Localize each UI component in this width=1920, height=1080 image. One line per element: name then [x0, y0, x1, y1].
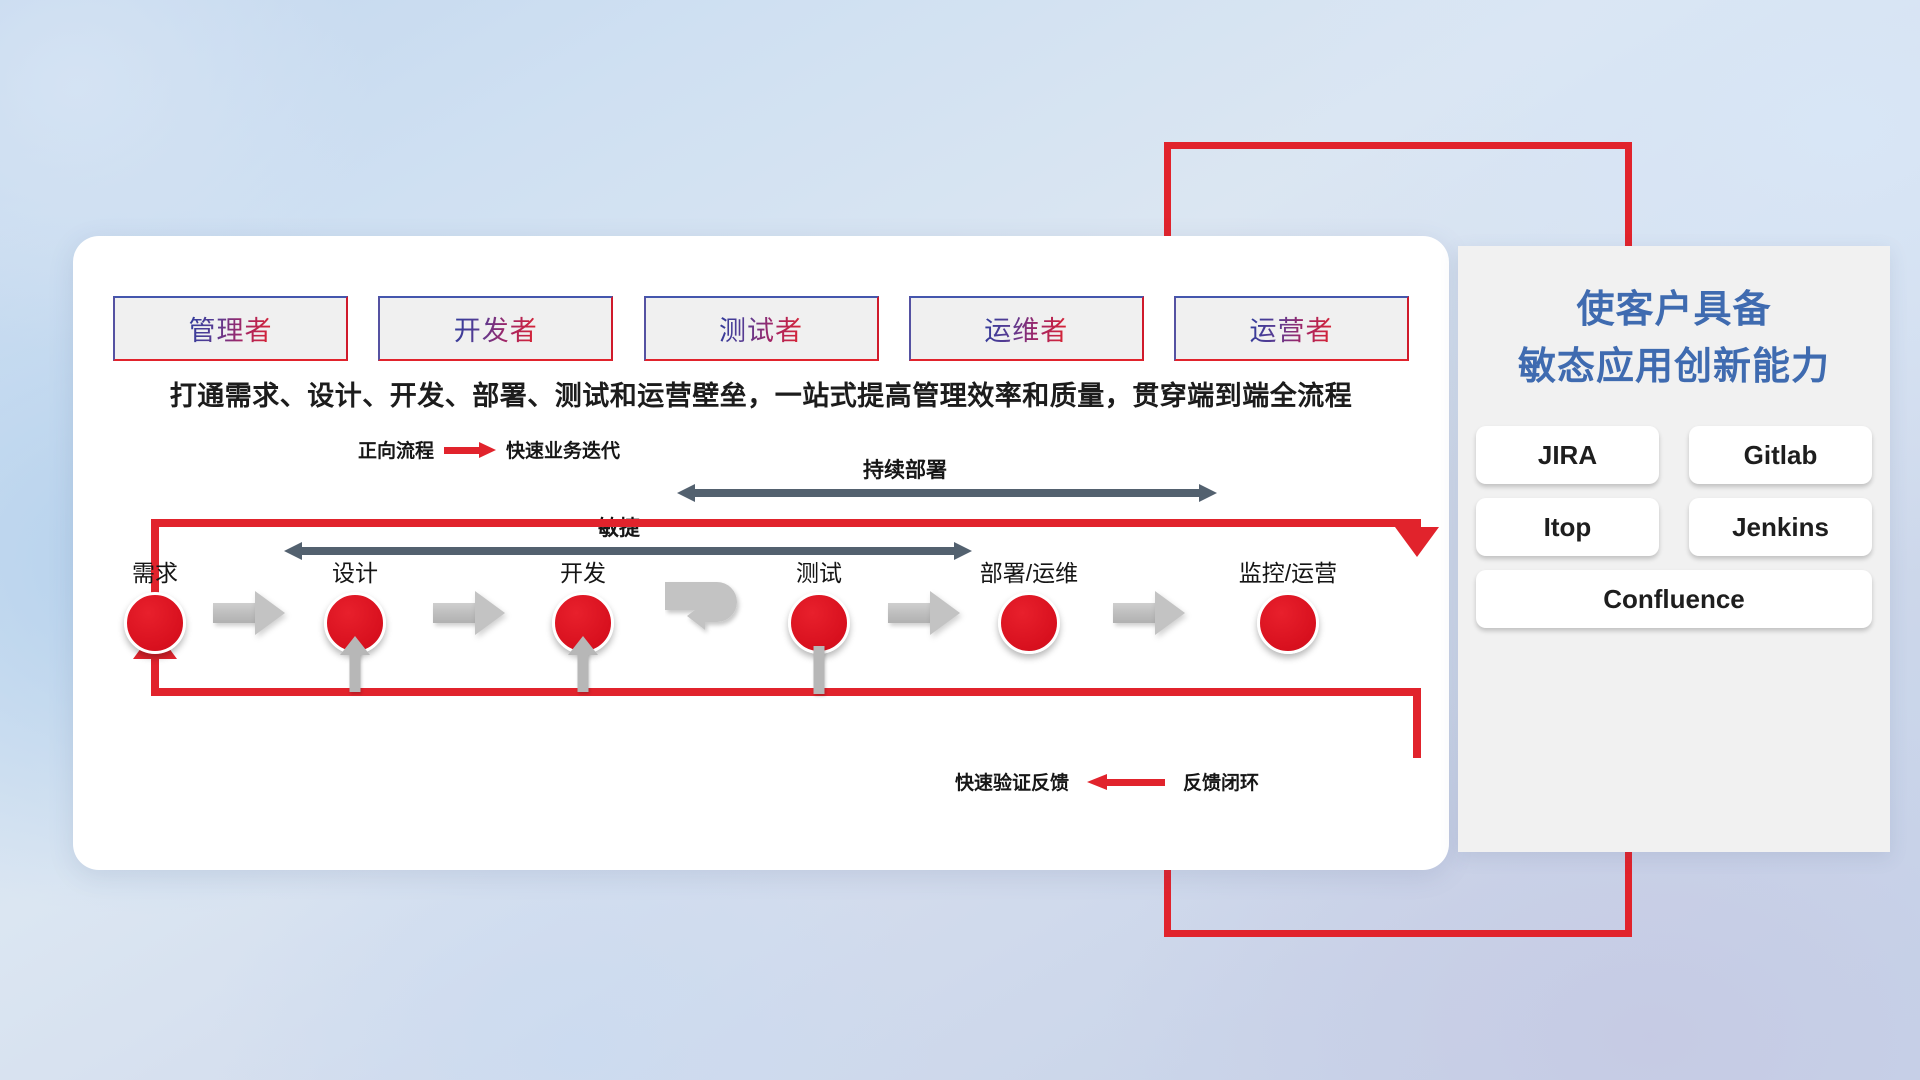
arrow-head: [1087, 774, 1107, 790]
span-label-agile: 敏捷: [598, 512, 640, 542]
role-box-manager[interactable]: 管理者: [113, 296, 348, 361]
tool-button-jira[interactable]: JIRA: [1476, 426, 1659, 484]
tool-label: Gitlab: [1744, 440, 1818, 471]
stage-stem: [578, 650, 589, 692]
flow-stage-development[interactable]: 开发: [523, 554, 643, 654]
stage-label: 开发: [523, 554, 643, 588]
rail-bottom-segment: [151, 688, 1421, 696]
red-frame-bottom-segment: [1164, 930, 1632, 937]
red-frame-top-segment: [1164, 142, 1632, 149]
stage-stem: [814, 646, 825, 694]
role-box-developer[interactable]: 开发者: [378, 296, 613, 361]
card-description-text: 打通需求、设计、开发、部署、测试和运营壁垒，一站式提高管理效率和质量，贯穿端到端…: [73, 374, 1449, 413]
stage-node-circle: [998, 592, 1060, 654]
gray-loop-arrow-icon: [665, 576, 761, 644]
tool-label: Itop: [1544, 512, 1592, 543]
arrow-head: [930, 591, 960, 635]
arrow-shaft: [444, 447, 480, 454]
rail-right-stub: [1413, 519, 1421, 541]
role-box-row: 管理者 开发者 测试者 运维者 运营者: [113, 296, 1409, 361]
rail-arrowhead-down: [1395, 527, 1439, 557]
stage-label: 测试: [759, 554, 879, 588]
arrow-head: [479, 442, 496, 458]
role-label: 开发者: [454, 309, 538, 348]
arrow-shaft: [433, 603, 477, 623]
role-box-operator[interactable]: 运营者: [1174, 296, 1409, 361]
stage-label: 部署/运维: [969, 554, 1089, 588]
legend-feedback-loop: 快速验证反馈 反馈闭环: [955, 768, 1259, 795]
flow-stage-testing[interactable]: 测试: [759, 554, 879, 654]
role-box-tester[interactable]: 测试者: [644, 296, 879, 361]
gray-arrow-design-to-dev: [433, 591, 505, 635]
stage-node-circle: [124, 592, 186, 654]
tool-label: Jenkins: [1732, 512, 1829, 543]
arrow-shaft: [1113, 603, 1157, 623]
tools-title-line-2: 敏态应用创新能力: [1472, 339, 1876, 396]
arrow-shaft: [888, 603, 932, 623]
stage-label: 设计: [295, 554, 415, 588]
legend-forward-source-label: 正向流程: [358, 436, 434, 463]
tools-panel-title: 使客户具备 敏态应用创新能力: [1458, 246, 1890, 404]
role-box-ops-engineer[interactable]: 运维者: [909, 296, 1144, 361]
rail-right-down-segment: [1413, 688, 1421, 758]
tool-button-itop[interactable]: Itop: [1476, 498, 1659, 556]
arrow-head: [255, 591, 285, 635]
arrow-shaft: [1107, 779, 1165, 786]
gray-arrow-req-to-design: [213, 591, 285, 635]
stage-stem-arrowhead: [568, 636, 598, 655]
tools-grid: JIRA Gitlab Itop Jenkins Confluence: [1476, 426, 1872, 628]
tool-button-jenkins[interactable]: Jenkins: [1689, 498, 1872, 556]
stage-label: 需求: [95, 554, 215, 588]
span-label-continuous-deployment: 持续部署: [863, 454, 947, 484]
arrow-shaft: [693, 489, 1201, 497]
arrow-head: [475, 591, 505, 635]
tool-button-confluence[interactable]: Confluence: [1476, 570, 1872, 628]
double-headed-arrow-continuous-deployment: [677, 484, 1217, 502]
flow-stage-requirements[interactable]: 需求: [95, 554, 215, 654]
gray-arrow-test-to-deploy: [888, 591, 960, 635]
role-label: 运营者: [1250, 309, 1334, 348]
tool-label: JIRA: [1538, 440, 1597, 471]
tools-panel: 使客户具备 敏态应用创新能力 JIRA Gitlab Itop Jenkins …: [1458, 246, 1890, 852]
arrow-shaft: [213, 603, 257, 623]
flow-stage-design[interactable]: 设计: [295, 554, 415, 654]
flow-stage-deploy-ops[interactable]: 部署/运维: [969, 554, 1089, 654]
red-left-arrow-icon: [1087, 774, 1165, 790]
stage-label: 监控/运营: [1228, 554, 1348, 588]
role-label: 管理者: [189, 309, 273, 348]
tools-title-line-1: 使客户具备: [1472, 282, 1876, 339]
arrow-head-right: [1199, 484, 1217, 502]
stage-stem-arrowhead: [340, 636, 370, 655]
role-label: 运维者: [984, 309, 1068, 348]
arrow-head: [1155, 591, 1185, 635]
role-label: 测试者: [719, 309, 803, 348]
tool-label: Confluence: [1603, 584, 1745, 615]
tool-button-gitlab[interactable]: Gitlab: [1689, 426, 1872, 484]
legend-forward-target-label: 快速业务迭代: [506, 436, 620, 463]
gray-arrow-deploy-to-monitor: [1113, 591, 1185, 635]
stage-node-circle: [1257, 592, 1319, 654]
devops-overview-card: 管理者 开发者 测试者 运维者 运营者 打通需求、设计、开发、部署、测试和运营壁…: [73, 236, 1449, 870]
legend-forward-flow: 正向流程 快速业务迭代: [358, 436, 620, 463]
legend-feedback-source-label: 反馈闭环: [1183, 768, 1259, 795]
stage-node-circle: [788, 592, 850, 654]
stage-stem: [350, 650, 361, 692]
rail-top-segment: [151, 519, 1421, 527]
legend-feedback-target-label: 快速验证反馈: [955, 768, 1069, 795]
red-right-arrow-icon: [444, 442, 496, 458]
flow-stage-monitor-operate[interactable]: 监控/运营: [1228, 554, 1348, 654]
